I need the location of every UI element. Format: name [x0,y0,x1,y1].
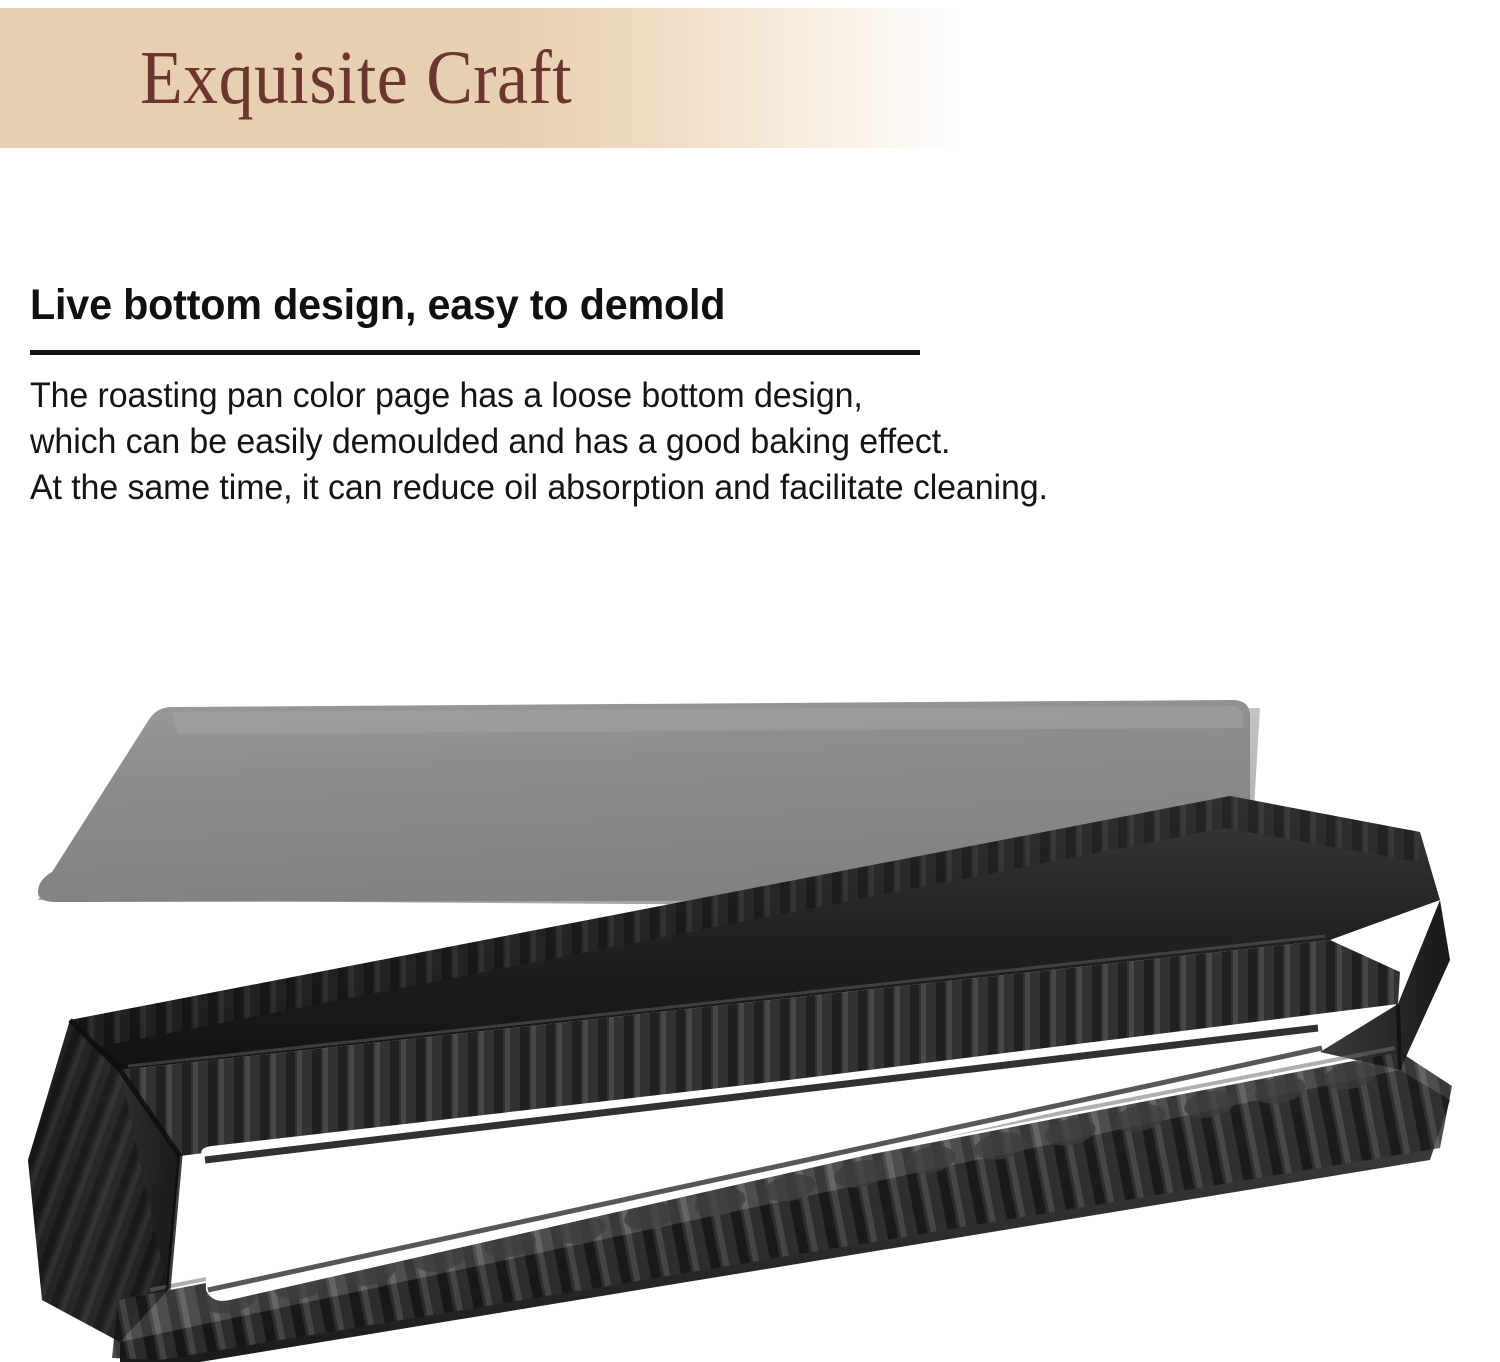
product-photo [0,600,1500,1362]
banner-title: Exquisite Craft [140,40,572,116]
feature-paragraph-line: At the same time, it can reduce oil abso… [30,465,1349,511]
exquisite-craft-banner: Exquisite Craft [0,8,965,148]
heading-divider [30,350,920,355]
feature-copy-block: Live bottom design, easy to demold The r… [30,283,1390,511]
feature-paragraph-line: The roasting pan color page has a loose … [30,373,1349,419]
feature-paragraph-line: which can be easily demoulded and has a … [30,419,1349,465]
feature-heading: Live bottom design, easy to demold [30,283,1336,328]
